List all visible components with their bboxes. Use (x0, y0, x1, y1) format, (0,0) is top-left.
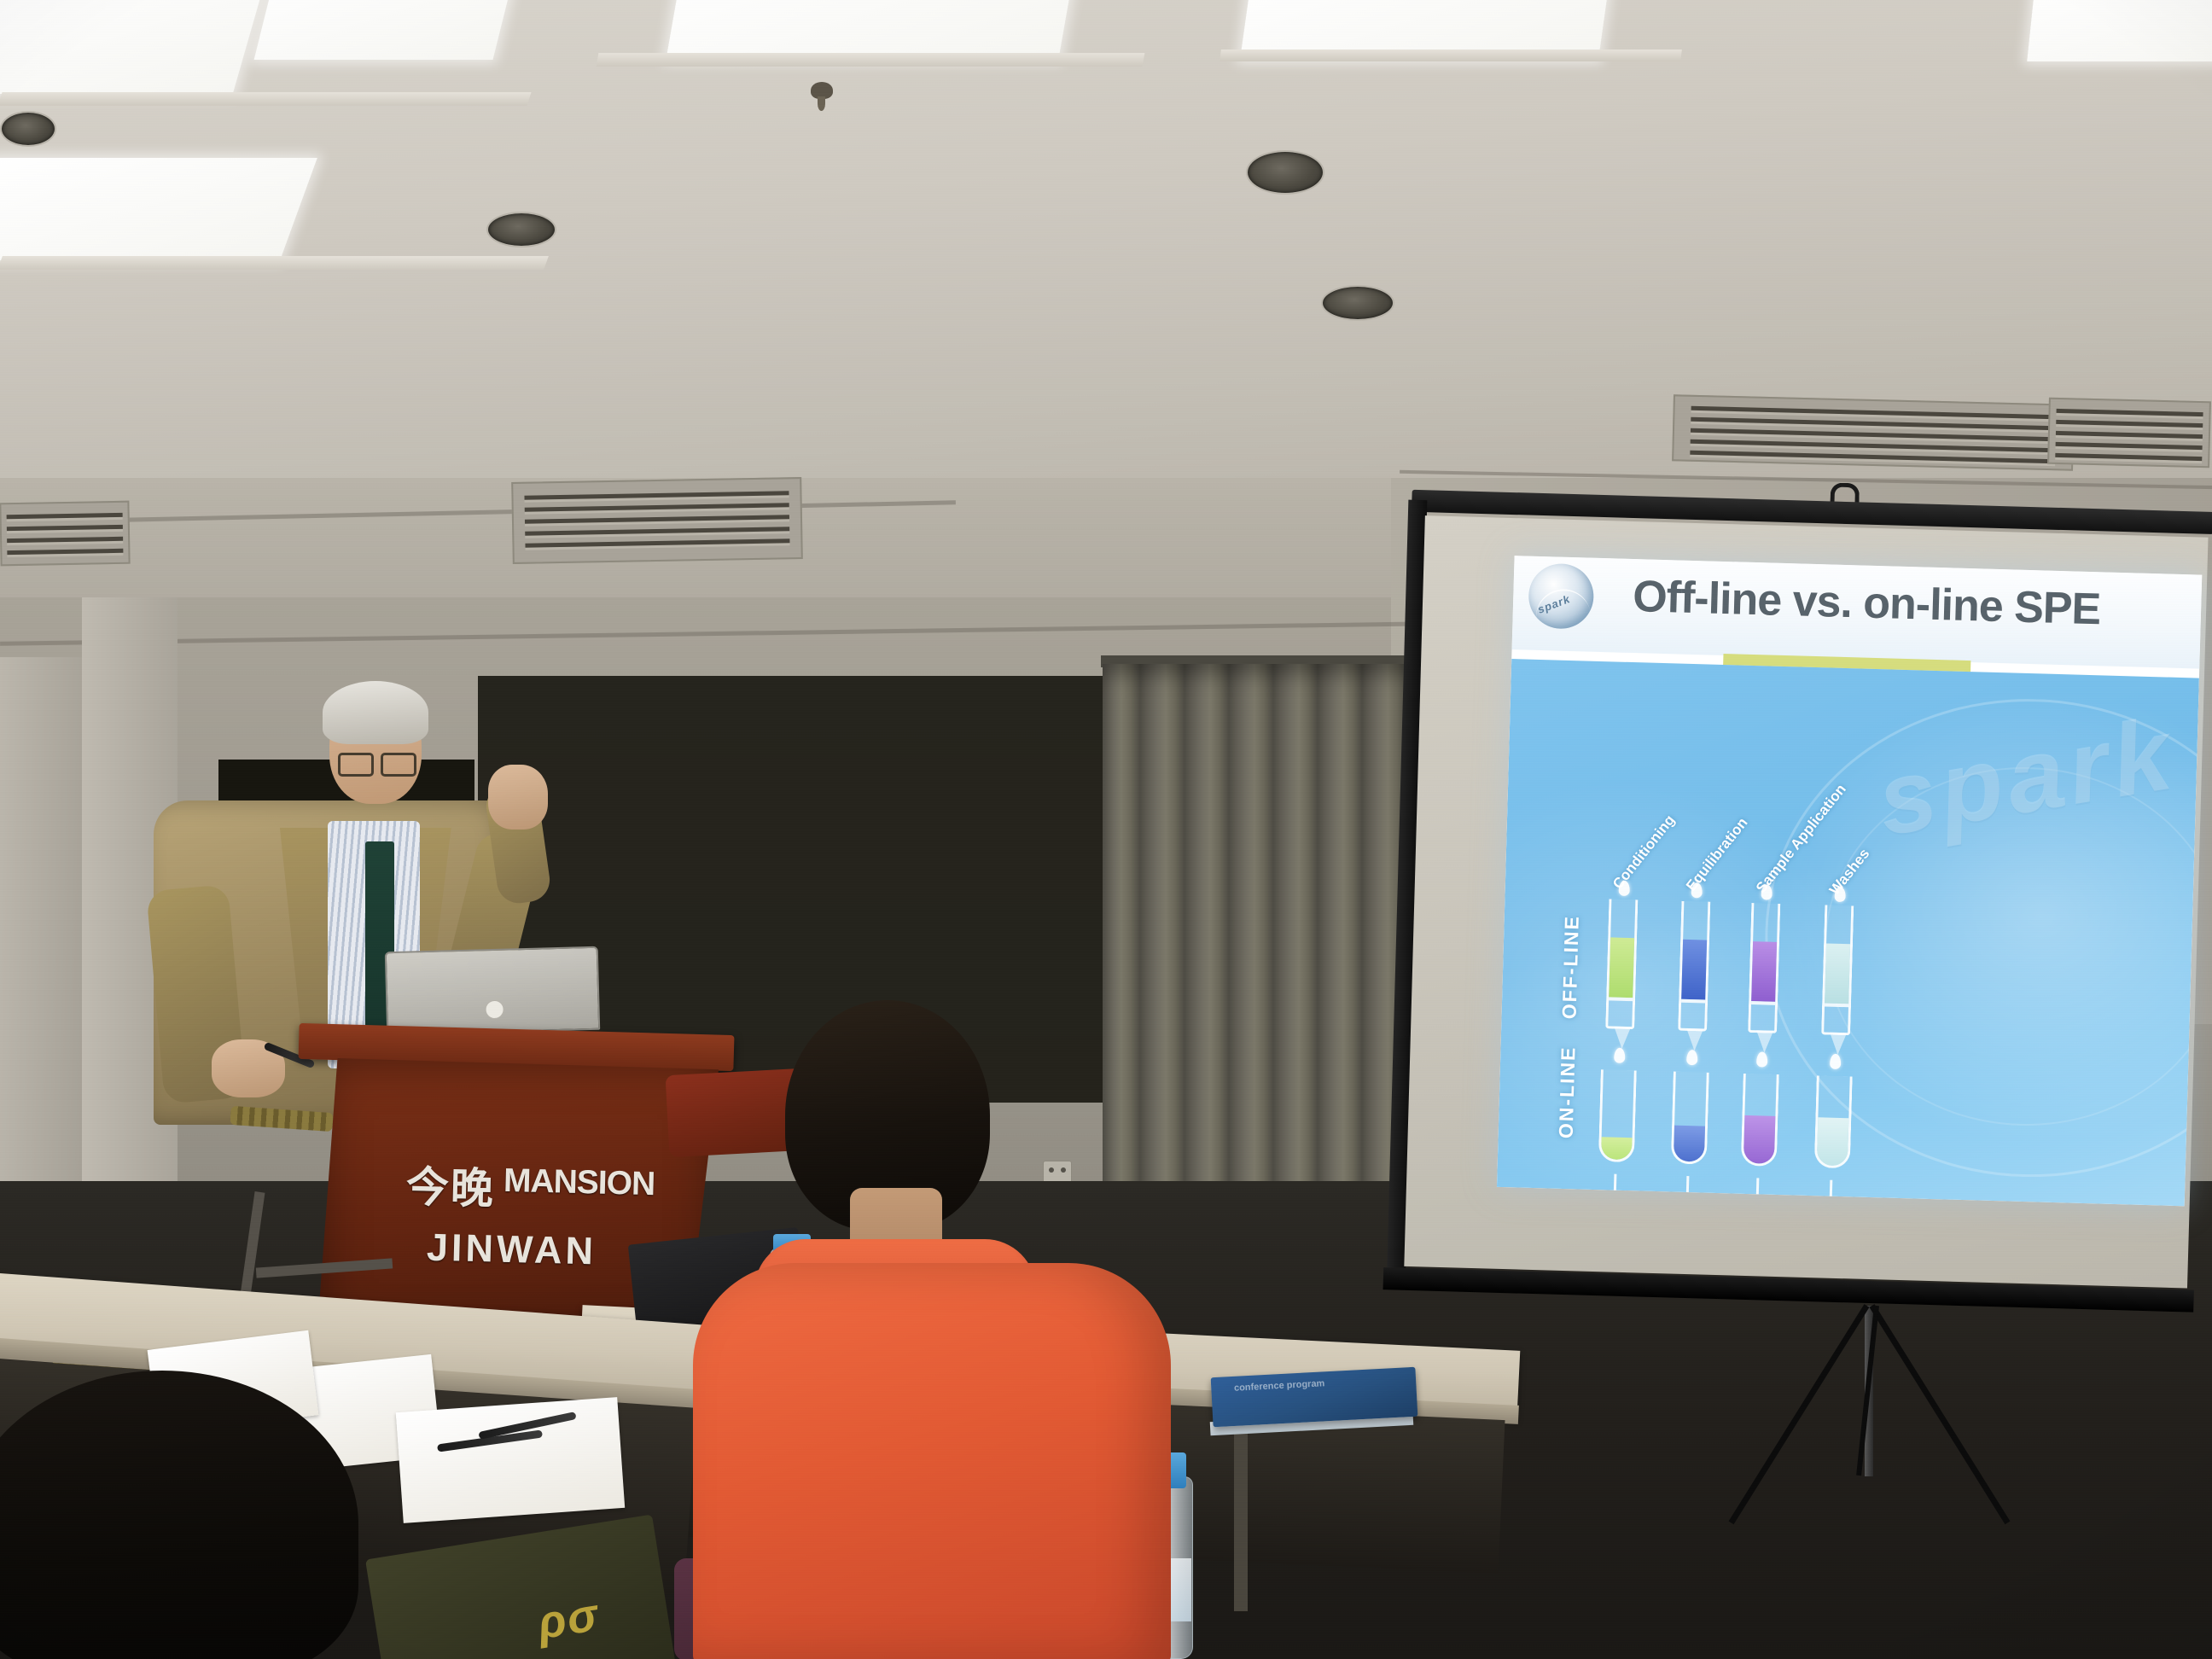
eyeglasses-icon (338, 753, 416, 771)
liquid-drop-icon (1614, 1048, 1625, 1063)
attendee-torso (693, 1263, 1171, 1659)
collection-tube-icon (1814, 1075, 1853, 1168)
recessed-downlight (1321, 285, 1394, 321)
podium-brand-en: MANSION (503, 1162, 655, 1203)
liquid-drop-icon (1830, 1054, 1841, 1069)
podium-laptop[interactable] (385, 946, 600, 1036)
air-vent-grille (511, 477, 803, 564)
recessed-downlight (0, 111, 56, 147)
note-sheet (396, 1397, 625, 1523)
row-label-off-line: OFF-LINE (1557, 915, 1583, 1020)
row-label-on-line: ON-LINE (1555, 1045, 1580, 1138)
liquid-drop-icon (1756, 1051, 1767, 1067)
spe-cartridge-icon (1678, 901, 1710, 1032)
spark-logo-text: spark (1536, 592, 1572, 616)
liquid-drop-icon (1619, 881, 1630, 896)
liquid-drop-icon (1761, 884, 1772, 899)
wall-moulding (0, 657, 82, 1203)
air-vent-grille (1672, 394, 2075, 470)
liquid-drop-icon (1834, 887, 1845, 902)
spe-cartridge-icon (1605, 899, 1638, 1029)
table-leg (1234, 1423, 1248, 1611)
presenter-hand-gesture (488, 765, 548, 829)
ceiling-light-panel (0, 158, 317, 260)
recessed-downlight (486, 212, 556, 247)
spe-cartridge-icon (1748, 903, 1780, 1033)
presenter-hair (323, 681, 428, 744)
projection-screen: spark Off-line vs. on-line SPE spark OFF… (1398, 512, 2212, 1328)
step-label-conditioning: Conditioning (1610, 812, 1679, 892)
laptop-logo-icon (485, 1000, 504, 1020)
fire-sprinkler-icon (811, 82, 833, 99)
conference-room-photo: spark Off-line vs. on-line SPE spark OFF… (0, 0, 2212, 1659)
collection-tube-icon (1671, 1072, 1709, 1165)
slide-body: spark OFF-LINE ON-LINE Conditioning Equi… (1497, 659, 2199, 1206)
podium-brand-sub: JINWAN (426, 1225, 597, 1274)
air-vent-grille (0, 501, 131, 567)
ceiling-bevel (0, 256, 549, 270)
bag-logo-text: ρσ (534, 1588, 603, 1650)
ceiling-bevel (0, 92, 532, 106)
air-vent-grille (2047, 398, 2211, 469)
ceiling-bevel (1220, 49, 1682, 61)
recessed-downlight (1246, 150, 1324, 195)
ceiling-light-panel (666, 0, 1074, 60)
step-label-equilibration: Equilibration (1683, 815, 1751, 895)
liquid-drop-icon (1686, 1050, 1697, 1065)
collection-tube-icon (1598, 1069, 1637, 1162)
ceiling-light-panel (2027, 0, 2212, 61)
liquid-drop-icon (1691, 882, 1703, 898)
spe-cartridge-icon (1821, 905, 1854, 1035)
podium-brand-cn: 今晚 (405, 1153, 496, 1217)
ceiling-light-panel (0, 0, 262, 94)
projected-slide: spark Off-line vs. on-line SPE spark OFF… (1497, 556, 2202, 1206)
ceiling-bevel (597, 53, 1145, 67)
collection-tube-icon (1741, 1074, 1779, 1167)
ceiling-light-panel (254, 0, 515, 60)
